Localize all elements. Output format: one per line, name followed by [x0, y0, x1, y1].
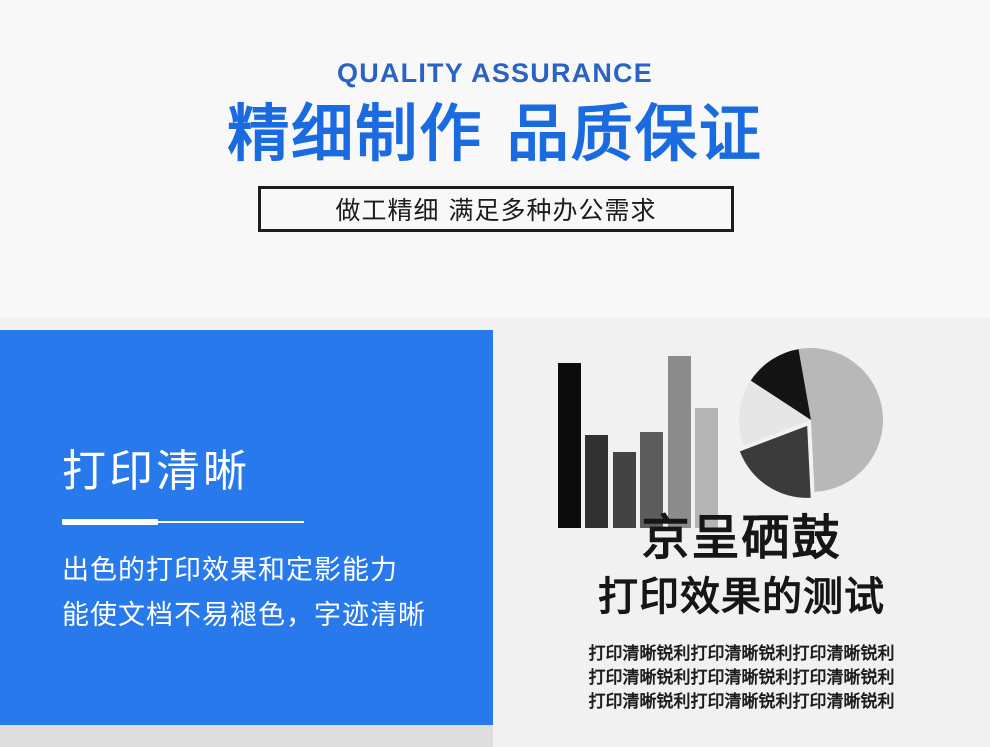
product-detail-page: QUALITY ASSURANCE 精细制作 品质保证 做工精细 满足多种办公需… [0, 0, 990, 747]
bottom-strip [0, 725, 493, 747]
page-title: 精细制作 品质保证 [0, 98, 990, 170]
feature-panel-title: 打印清晰 [62, 446, 250, 498]
bar-chart-bar [668, 356, 691, 528]
divider-thin-segment [158, 521, 304, 523]
divider-thick-segment [62, 519, 158, 525]
eyebrow-text: QUALITY ASSURANCE [0, 58, 990, 89]
fineprint-line: 打印清晰锐利打印清晰锐利打印清晰锐利 [493, 690, 990, 714]
showcase-subtitle: 打印效果的测试 [493, 573, 990, 621]
fineprint-line: 打印清晰锐利打印清晰锐利打印清晰锐利 [493, 642, 990, 666]
bar-chart [558, 356, 718, 528]
pie-chart-svg [733, 340, 893, 500]
bar-chart-bar [558, 363, 581, 528]
feature-panel-divider [62, 519, 302, 525]
pie-slice [798, 348, 883, 492]
feature-panel-line-2: 能使文档不易褪色，字迹清晰 [62, 599, 426, 633]
feature-panel: 打印清晰 出色的打印效果和定影能力 能使文档不易褪色，字迹清晰 [0, 330, 493, 725]
brand-name: 京呈硒鼓 [493, 510, 990, 566]
feature-panel-line-1: 出色的打印效果和定影能力 [62, 554, 398, 588]
fineprint-line: 打印清晰锐利打印清晰锐利打印清晰锐利 [493, 666, 990, 690]
header-section: QUALITY ASSURANCE 精细制作 品质保证 做工精细 满足多种办公需… [0, 0, 990, 318]
subtitle-text: 做工精细 满足多种办公需求 [336, 191, 657, 227]
subtitle-box: 做工精细 满足多种办公需求 [258, 186, 734, 232]
fineprint-block: 打印清晰锐利打印清晰锐利打印清晰锐利打印清晰锐利打印清晰锐利打印清晰锐利打印清晰… [493, 642, 990, 714]
showcase-panel: 京呈硒鼓 打印效果的测试 打印清晰锐利打印清晰锐利打印清晰锐利打印清晰锐利打印清… [493, 330, 990, 747]
pie-chart [733, 340, 893, 500]
